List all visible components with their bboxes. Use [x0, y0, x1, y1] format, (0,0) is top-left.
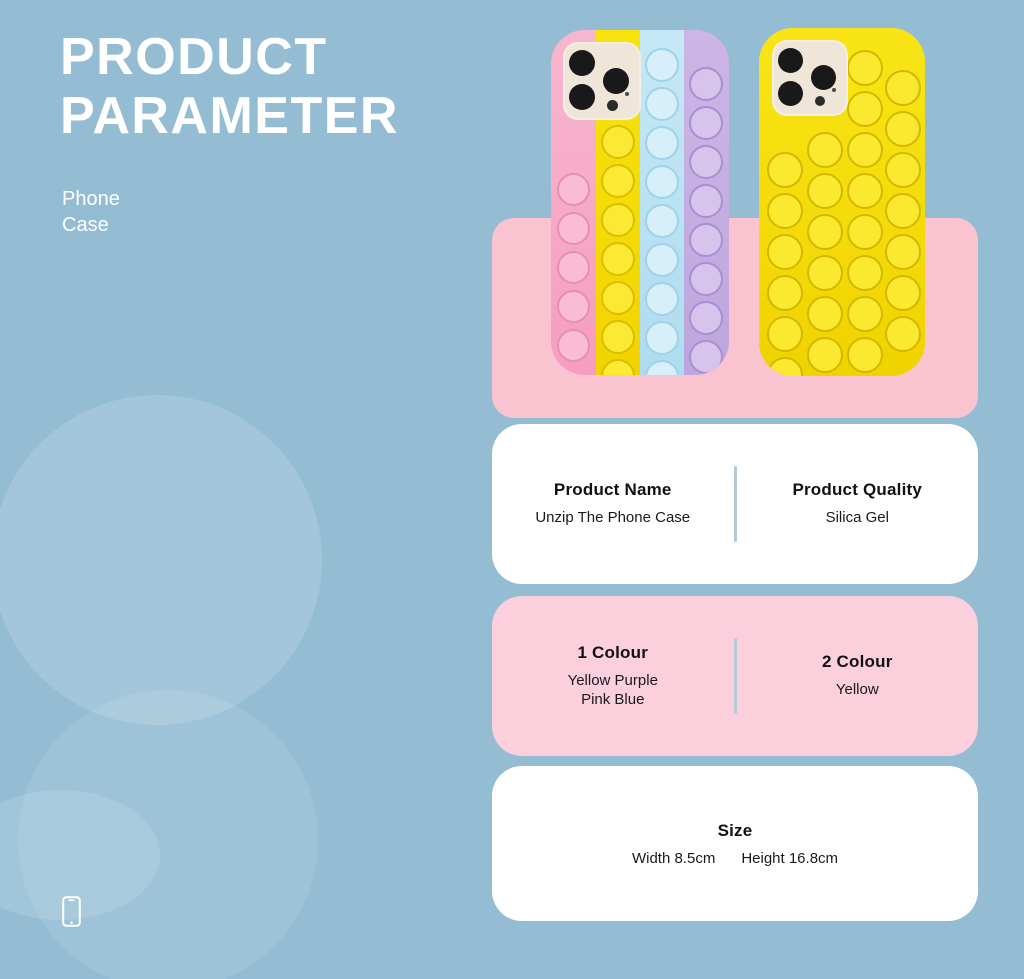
spec-value-colour-1-line2: Pink Blue: [502, 691, 724, 710]
page-subtitle: Phone Case: [62, 186, 120, 239]
spec-colour-2: 2 Colour Yellow: [737, 652, 979, 700]
pop-bubble: [557, 329, 590, 362]
spec-product-name: Product Name Unzip The Phone Case: [492, 480, 734, 528]
pop-bubble: [645, 126, 679, 160]
multicolor-phone-case-image: [551, 30, 729, 375]
pop-bubble: [601, 242, 635, 276]
spec-value-size-height: Height 16.8cm: [741, 850, 838, 867]
product-name-quality-card: Product Name Unzip The Phone Case Produc…: [492, 424, 978, 584]
page-title-line2: PARAMETER: [60, 87, 399, 146]
pop-bubble: [847, 132, 883, 168]
pop-bubble: [645, 165, 679, 199]
size-card: Size Width 8.5cm Height 16.8cm: [492, 766, 978, 921]
page-title: PRODUCT PARAMETER: [60, 28, 399, 146]
camera-module: [563, 42, 641, 120]
pop-bubble: [767, 316, 803, 352]
pop-bubble: [689, 184, 723, 218]
pop-bubble: [885, 234, 921, 270]
pop-bubble: [557, 173, 590, 206]
pop-bubble: [601, 203, 635, 237]
pop-bubble: [689, 145, 723, 179]
camera-lens: [778, 81, 803, 106]
pop-bubble: [601, 281, 635, 315]
spec-value-colour-1: Yellow Purple Pink Blue: [502, 672, 724, 710]
pop-bubble: [601, 125, 635, 159]
decorative-circle-medium: [18, 690, 318, 979]
pop-bubble: [807, 296, 843, 332]
page-title-line1: PRODUCT: [60, 28, 328, 86]
spec-value-size: Width 8.5cm Height 16.8cm: [632, 850, 838, 867]
colour-options-card: 1 Colour Yellow Purple Pink Blue 2 Colou…: [492, 596, 978, 756]
camera-lens: [569, 84, 595, 110]
pop-bubble: [557, 290, 590, 323]
pop-bubble: [807, 214, 843, 250]
pop-bubble: [557, 251, 590, 284]
pop-bubble: [689, 301, 723, 335]
pop-bubble: [807, 337, 843, 373]
spec-value-product-name: Unzip The Phone Case: [502, 509, 724, 528]
pop-bubble: [807, 173, 843, 209]
camera-lens: [778, 48, 803, 73]
camera-flash-icon: [815, 96, 825, 106]
pop-bubble: [645, 48, 679, 82]
pop-bubble: [645, 282, 679, 316]
pop-bubble: [807, 255, 843, 291]
pop-bubble: [847, 50, 883, 86]
camera-module: [772, 40, 848, 116]
pop-bubble: [847, 337, 883, 373]
camera-mic: [625, 92, 629, 96]
pop-bubble: [689, 262, 723, 296]
pop-bubble: [645, 87, 679, 121]
camera-flash-icon: [607, 100, 618, 111]
pop-bubble: [847, 214, 883, 250]
spec-value-colour-1-line1: Yellow Purple: [502, 672, 724, 691]
pop-bubble: [767, 275, 803, 311]
yellow-phone-case-image: [759, 28, 925, 376]
spec-value-colour-2: Yellow: [747, 681, 969, 700]
pop-bubble: [689, 106, 723, 140]
pop-bubble: [767, 152, 803, 188]
pop-bubble: [601, 164, 635, 198]
spec-value-size-width: Width 8.5cm: [632, 850, 715, 867]
spec-title-product-name: Product Name: [502, 480, 724, 500]
pop-bubble: [645, 321, 679, 355]
pop-bubble: [847, 296, 883, 332]
pop-bubble: [885, 316, 921, 352]
infographic-canvas: PRODUCT PARAMETER Phone Case: [0, 0, 1024, 979]
pop-bubble: [847, 255, 883, 291]
spec-title-colour-1: 1 Colour: [502, 643, 724, 663]
pop-bubble: [601, 320, 635, 354]
spec-colour-1: 1 Colour Yellow Purple Pink Blue: [492, 643, 734, 710]
spec-title-colour-2: 2 Colour: [747, 652, 969, 672]
spec-value-product-quality: Silica Gel: [747, 509, 969, 528]
pop-bubble: [767, 193, 803, 229]
page-subtitle-line1: Phone: [62, 186, 120, 212]
pop-bubble: [885, 152, 921, 188]
decorative-circle-large: [0, 395, 322, 725]
camera-lens: [603, 68, 629, 94]
mobile-phone-icon: [62, 896, 81, 927]
pop-bubble: [885, 111, 921, 147]
pop-bubble: [689, 67, 723, 101]
camera-mic: [832, 88, 836, 92]
pop-bubble: [885, 193, 921, 229]
camera-lens: [569, 50, 595, 76]
pop-bubble: [645, 204, 679, 238]
spec-title-product-quality: Product Quality: [747, 480, 969, 500]
pop-bubble: [847, 173, 883, 209]
page-subtitle-line2: Case: [62, 212, 120, 238]
spec-product-quality: Product Quality Silica Gel: [737, 480, 979, 528]
pop-bubble: [689, 223, 723, 257]
pop-bubble: [645, 243, 679, 277]
camera-lens: [811, 65, 836, 90]
pop-bubble: [885, 70, 921, 106]
pop-bubble: [689, 340, 723, 374]
pop-bubble: [885, 275, 921, 311]
pop-bubble: [557, 212, 590, 245]
pop-bubble: [807, 132, 843, 168]
spec-title-size: Size: [718, 821, 753, 841]
pop-bubble: [767, 234, 803, 270]
pop-bubble: [847, 91, 883, 127]
